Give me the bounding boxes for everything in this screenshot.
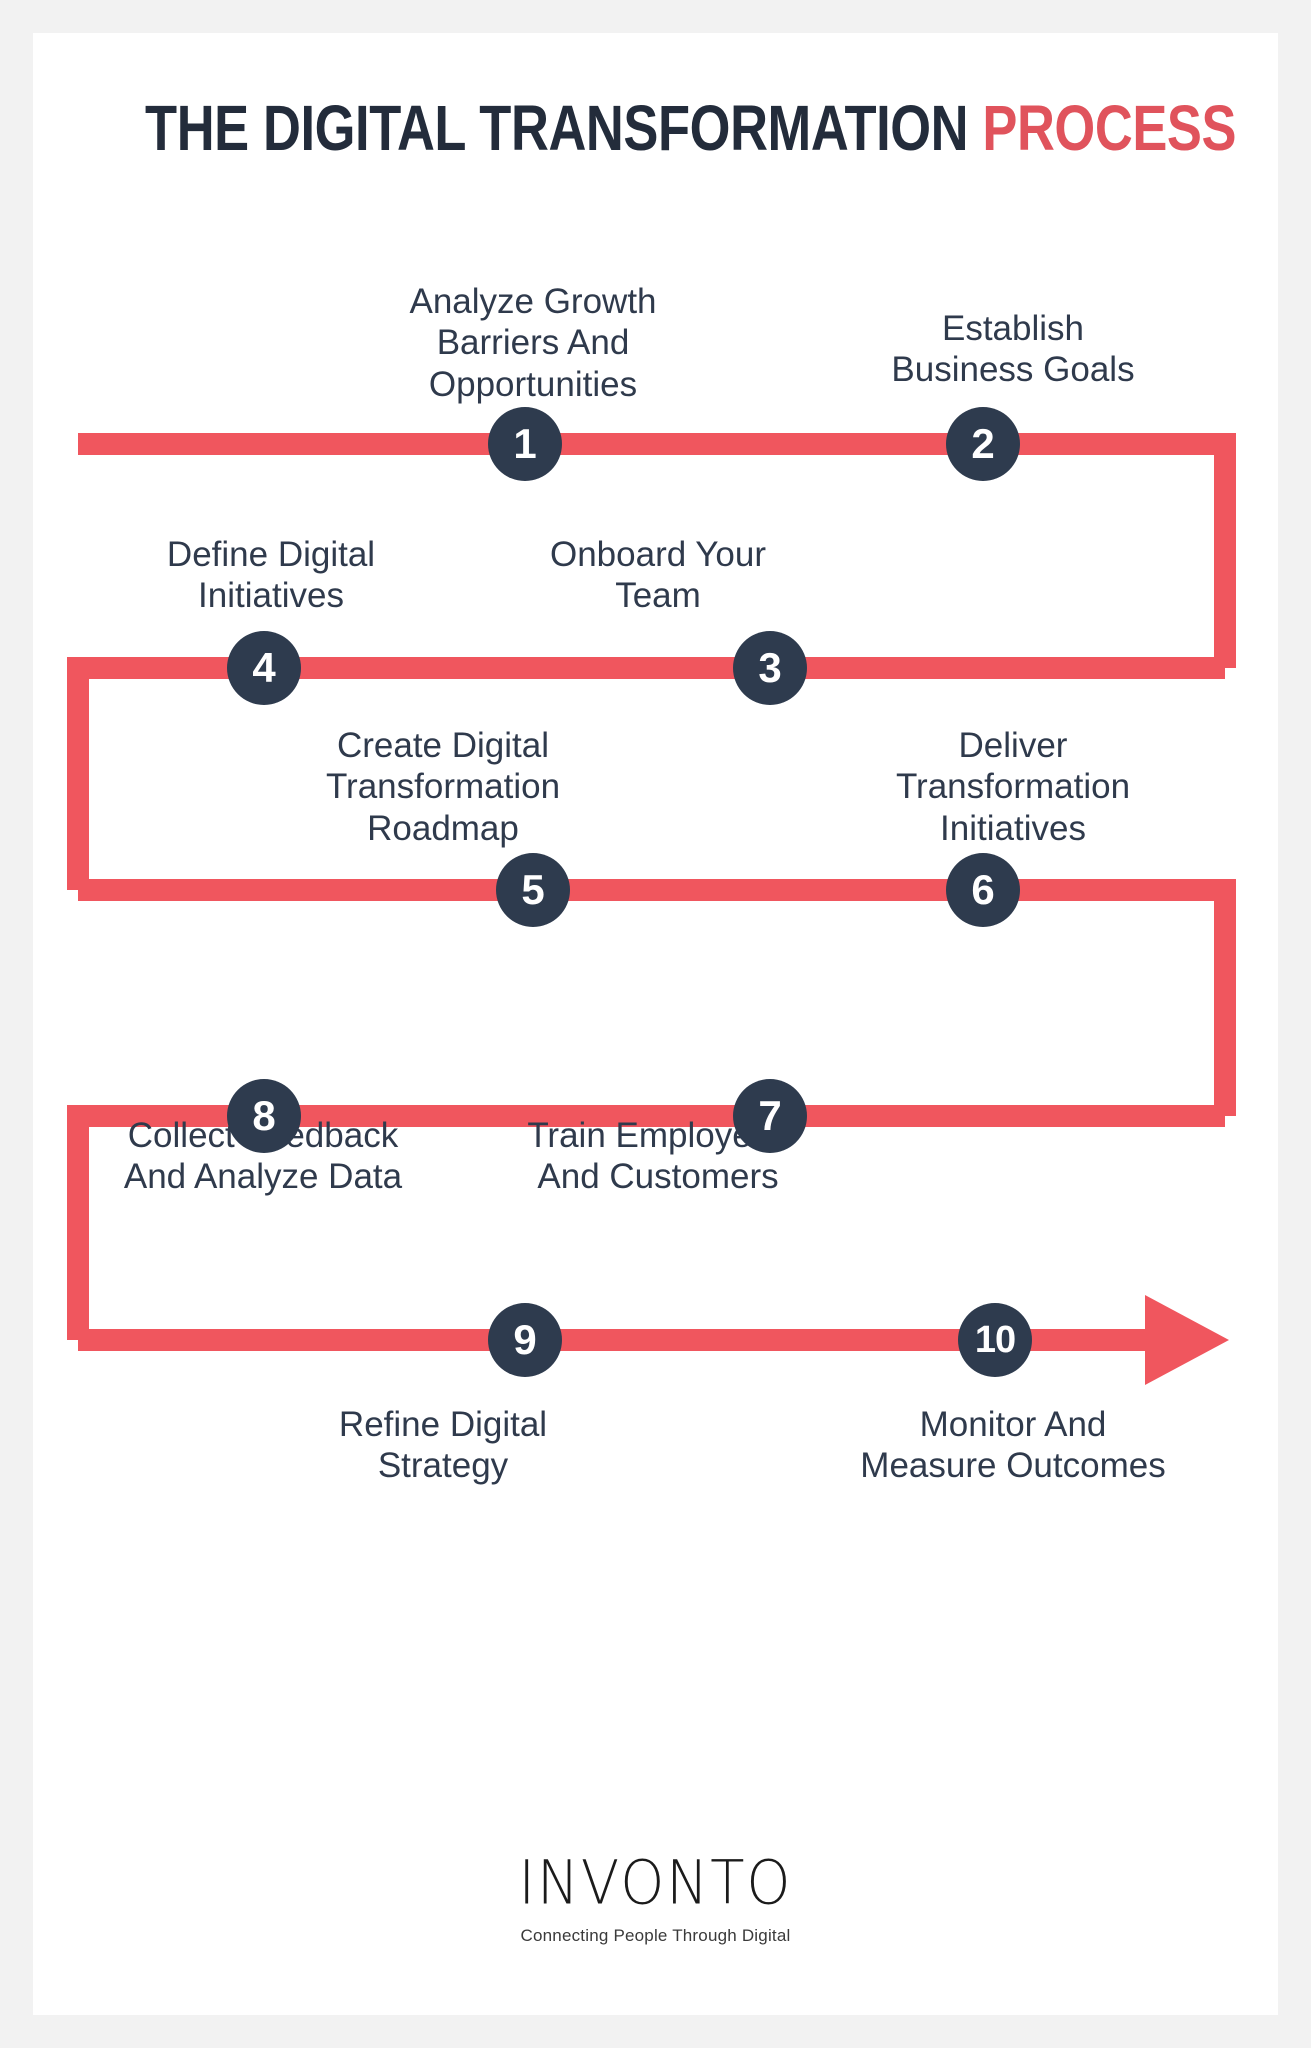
brand-tagline: Connecting People Through Digital (33, 1926, 1278, 1946)
step-label-2: Establish Business Goals (823, 308, 1203, 391)
process-flow-diagram: Analyze Growth Barriers And Opportunitie… (33, 33, 1278, 2015)
brand-logo: INVONTO Connecting People Through Digita… (33, 1851, 1278, 1946)
brand-wordmark: INVONTO (519, 1848, 793, 1918)
step-circle-3[interactable]: 3 (733, 631, 807, 705)
step-label-10: Monitor And Measure Outcomes (803, 1404, 1223, 1487)
infographic-card: THE DIGITAL TRANSFORMATION PROCESS Analy… (33, 33, 1278, 2015)
step-circle-1[interactable]: 1 (488, 407, 562, 481)
step-circle-6[interactable]: 6 (946, 853, 1020, 927)
step-circle-5[interactable]: 5 (496, 853, 570, 927)
flow-arrowhead-icon (1145, 1295, 1229, 1385)
step-label-4: Define Digital Initiatives (81, 534, 461, 617)
step-label-9: Refine Digital Strategy (253, 1404, 633, 1487)
step-circle-8[interactable]: 8 (227, 1079, 301, 1153)
step-label-1: Analyze Growth Barriers And Opportunitie… (343, 281, 723, 405)
step-circle-4[interactable]: 4 (227, 631, 301, 705)
step-circle-7[interactable]: 7 (733, 1079, 807, 1153)
step-label-3: Onboard Your Team (468, 534, 848, 617)
step-label-6: Deliver Transformation Initiatives (823, 725, 1203, 849)
step-circle-2[interactable]: 2 (946, 407, 1020, 481)
step-label-5: Create Digital Transformation Roadmap (253, 725, 633, 849)
step-circle-10[interactable]: 10 (958, 1303, 1032, 1377)
step-circle-9[interactable]: 9 (488, 1303, 562, 1377)
